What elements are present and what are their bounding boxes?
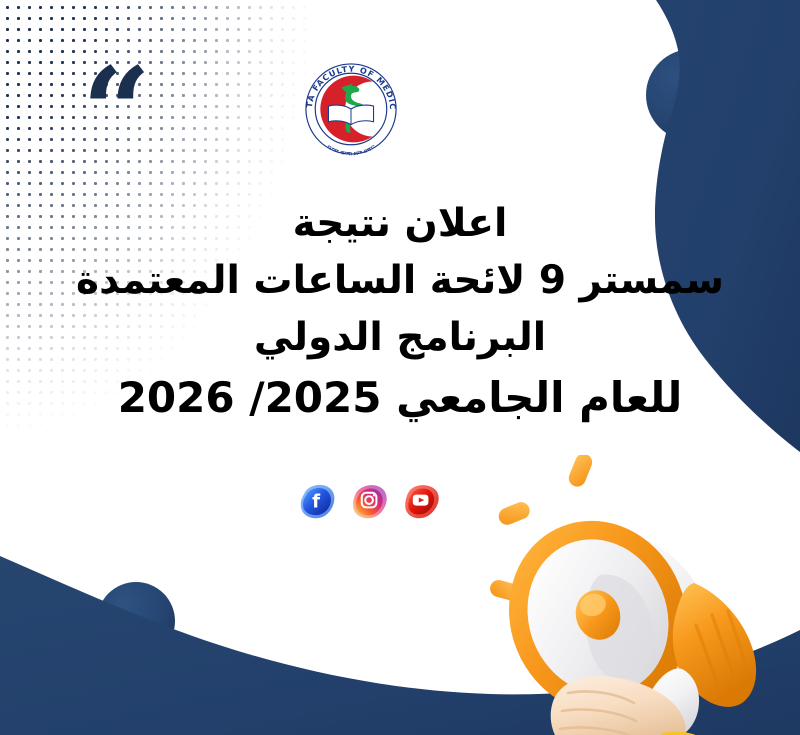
facebook-icon[interactable]: f [296,479,340,523]
facebook-glyph: f [312,491,321,512]
social-icons-row: f [296,474,444,528]
headline-line-3: البرنامج الدولي [60,310,740,367]
headline-block: اعلان نتيجة سمستر 9 لائحة الساعات المعتم… [0,196,800,428]
headline-line-2: سمستر 9 لائحة الساعات المعتمدة [60,253,740,310]
headline-line-1: اعلان نتيجة [60,196,740,253]
megaphone-illustration [450,455,800,735]
quote-mark-icon: “ [82,52,147,172]
navy-circle-bottom-left [97,582,175,660]
navy-circle-top-right [646,49,738,141]
university-logo: TANTA FACULTY OF MEDICINE جامعة طنطا كلي… [302,60,400,158]
poster-canvas: “ TANTA FACULTY OF MEDICINE جامعة طنطا ك… [0,0,800,735]
instagram-icon[interactable] [348,479,392,523]
headline-line-4: للعام الجامعي 2025/ 2026 [60,367,740,428]
youtube-icon[interactable] [400,479,444,523]
